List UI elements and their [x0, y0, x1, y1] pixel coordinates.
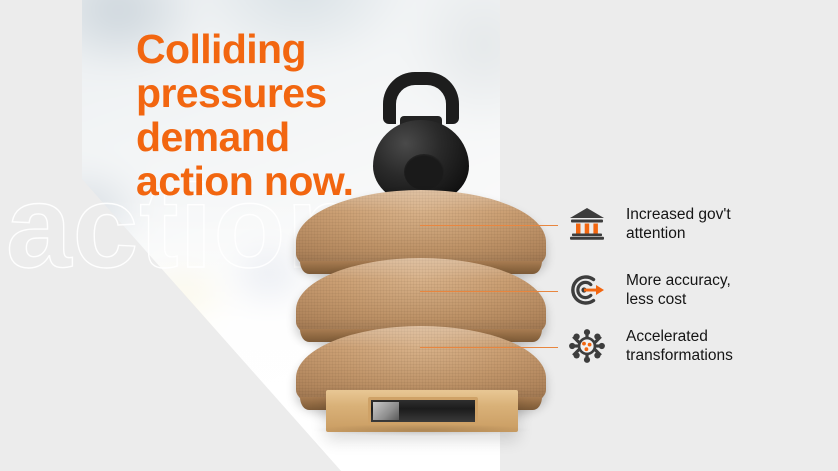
leader-line: [420, 225, 558, 226]
leader-line: [420, 291, 558, 292]
target-arrow-icon: [560, 263, 614, 317]
leader-line: [420, 347, 558, 348]
bank-building-icon: [560, 197, 614, 251]
callout-label: Accelerated transformations: [626, 327, 733, 366]
callout-list: Increased gov't attention More accuracy,…: [420, 0, 838, 471]
callout-item-transformations[interactable]: Accelerated transformations: [420, 318, 838, 374]
callout-item-accuracy-cost[interactable]: More accuracy, less cost: [420, 262, 838, 318]
callout-label: More accuracy, less cost: [626, 271, 731, 310]
gear-cog-icon: [560, 319, 614, 373]
callout-label: Increased gov't attention: [626, 205, 731, 244]
slide-canvas: action Colliding pressures demand action…: [0, 0, 838, 471]
callout-item-gov-attention[interactable]: Increased gov't attention: [420, 196, 838, 252]
headline-line-1: Colliding: [136, 28, 396, 72]
